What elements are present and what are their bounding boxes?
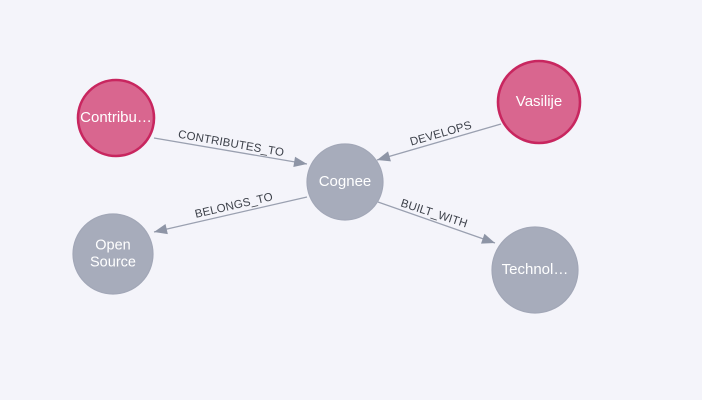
graph-node-open-source[interactable]: OpenSource (73, 214, 153, 294)
node-circle-technology[interactable] (492, 227, 578, 313)
edge-arrowhead-contributes-to (293, 157, 308, 169)
graph-node-technology[interactable]: Technol… (492, 227, 578, 313)
graph-svg: Contribu…VasilijeCogneeOpenSourceTechnol… (0, 0, 702, 400)
node-circle-open-source[interactable] (73, 214, 153, 294)
node-circle-cognee[interactable] (307, 144, 383, 220)
node-circle-vasilije[interactable] (498, 61, 580, 143)
edge-label-built-with: BUILT_WITH (399, 198, 469, 231)
edge-line-belongs-to[interactable] (154, 197, 307, 232)
edge-line-built-with[interactable] (378, 202, 495, 243)
graph-node-vasilije[interactable]: Vasilije (498, 61, 580, 143)
graph-node-cognee[interactable]: Cognee (307, 144, 383, 220)
edge-arrowhead-belongs-to (153, 224, 168, 237)
edge-label-develops: DEVELOPS (409, 119, 474, 148)
edge-label-belongs-to: BELONGS_TO (194, 191, 274, 221)
edge-arrowhead-built-with (481, 234, 497, 248)
edge-line-contributes-to[interactable] (154, 138, 307, 164)
node-circle-contributor[interactable] (78, 80, 154, 156)
edge-line-develops[interactable] (377, 124, 501, 160)
graph-canvas: Contribu…VasilijeCogneeOpenSourceTechnol… (0, 0, 702, 400)
nodes-layer: Contribu…VasilijeCogneeOpenSourceTechnol… (73, 61, 580, 313)
graph-node-contributor[interactable]: Contribu… (78, 80, 154, 156)
